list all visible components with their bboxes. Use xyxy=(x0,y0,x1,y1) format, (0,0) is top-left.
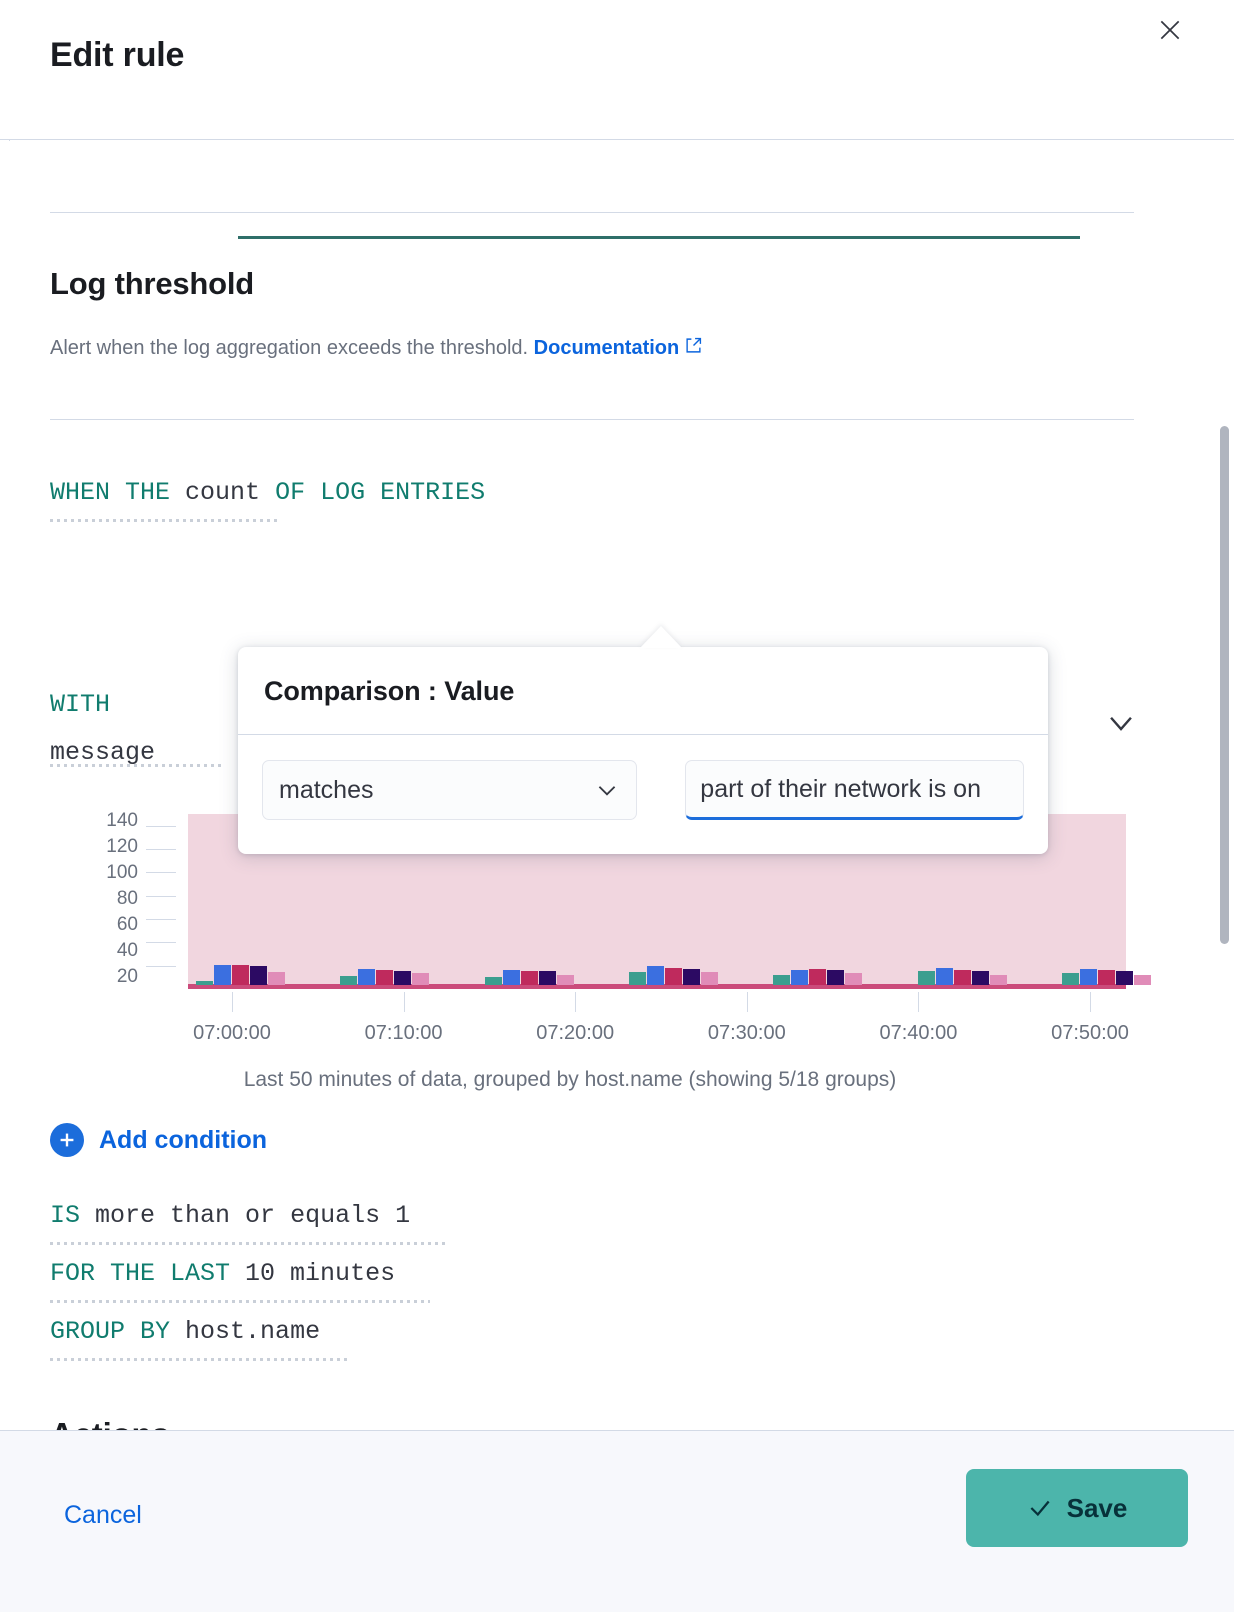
chart-y-gridline xyxy=(146,966,176,967)
expression-group-by-row[interactable]: GROUP BY host.name xyxy=(50,1315,320,1348)
expression-field-value: message xyxy=(50,738,155,767)
chart-bar xyxy=(701,972,718,985)
section-description-text: Alert when the log aggregation exceeds t… xyxy=(50,337,528,359)
expression-underline-when-the xyxy=(50,519,280,522)
chart-bar xyxy=(809,969,826,985)
chart-bar xyxy=(1062,973,1079,985)
expression-keyword-when-the: WHEN THE xyxy=(50,478,170,507)
chart-bar xyxy=(683,969,700,985)
comparator-select-value: matches xyxy=(279,776,594,805)
chart-bar xyxy=(376,970,393,985)
chart-y-gridline xyxy=(146,942,176,943)
add-condition-button[interactable]: Add condition xyxy=(50,1123,267,1157)
chart-x-axis-labels: 07:00:0007:10:0007:20:0007:30:0007:40:00… xyxy=(188,1022,1126,1048)
chart-y-tick-label: 20 xyxy=(60,964,138,990)
chart-y-gridline xyxy=(146,872,176,873)
plus-in-circle-icon xyxy=(50,1123,84,1157)
chart-x-tick-marks xyxy=(188,992,1126,1014)
chart-bar xyxy=(503,970,520,985)
expression-underline-for-the-last xyxy=(50,1300,430,1303)
chart-bar xyxy=(521,971,538,985)
chart-bar xyxy=(827,970,844,985)
expression-group-by-value: host.name xyxy=(185,1317,320,1346)
comparison-value-popover: Comparison : Value matches part of their… xyxy=(238,647,1048,854)
vertical-scrollbar[interactable] xyxy=(1216,141,1234,1430)
chart-bar xyxy=(340,976,357,985)
chart-x-tick xyxy=(918,992,919,1012)
expression-keyword-for-the-last: FOR THE LAST xyxy=(50,1259,230,1288)
expression-keyword-group-by: GROUP BY xyxy=(50,1317,170,1346)
chart-bar xyxy=(358,969,375,985)
chart-bar xyxy=(1116,971,1133,985)
chart-y-tick-label: 40 xyxy=(60,938,138,964)
expression-with-field[interactable]: WITHmessage xyxy=(50,681,155,776)
chart-bar xyxy=(232,965,249,985)
chart-x-tick-label: 07:50:00 xyxy=(1051,1022,1129,1045)
flyout-footer: Cancel Save xyxy=(0,1430,1234,1612)
section-description: Alert when the log aggregation exceeds t… xyxy=(50,337,702,360)
chart-bar xyxy=(557,975,574,986)
chart-x-tick-label: 07:10:00 xyxy=(365,1022,443,1045)
chart-bar xyxy=(773,975,790,986)
expression-when-the[interactable]: WHEN THE count OF LOG ENTRIES xyxy=(50,476,485,509)
chart-y-gridline xyxy=(146,849,176,850)
chart-x-tick xyxy=(232,992,233,1012)
actions-section-title: Actions xyxy=(50,1416,170,1430)
chart-x-tick-label: 07:40:00 xyxy=(879,1022,957,1045)
chart-y-tick-label: 100 xyxy=(60,860,138,886)
cancel-button[interactable]: Cancel xyxy=(64,1501,142,1530)
divider-below-description xyxy=(50,419,1134,420)
expression-underline-is xyxy=(50,1242,445,1245)
chart-bar xyxy=(539,971,556,985)
chart-y-gridline xyxy=(146,826,176,827)
page-title: Edit rule xyxy=(50,36,184,75)
chart-bar xyxy=(268,972,285,985)
section-title: Log threshold xyxy=(50,266,254,302)
expression-for-the-last-row[interactable]: FOR THE LAST 10 minutes xyxy=(50,1257,395,1290)
popover-title: Comparison : Value xyxy=(238,647,1048,735)
expression-for-the-last-value: 10 minutes xyxy=(245,1259,395,1288)
chart-bar xyxy=(196,981,213,985)
chart-x-tick-label: 07:30:00 xyxy=(708,1022,786,1045)
expression-aggregation-value: count xyxy=(185,478,260,507)
chart-bar xyxy=(250,966,267,985)
chart-bar xyxy=(972,971,989,985)
expression-underline-group-by xyxy=(50,1358,350,1361)
chart-y-axis-labels: 14012010080604020 xyxy=(60,808,138,990)
chart-x-tick xyxy=(404,992,405,1012)
chart-bar xyxy=(791,970,808,985)
chart-y-gridline xyxy=(146,919,176,920)
chart-bar xyxy=(954,970,971,985)
external-link-icon xyxy=(685,337,702,360)
chart-bar xyxy=(936,968,953,986)
comparator-select[interactable]: matches xyxy=(262,760,637,820)
chart-x-tick xyxy=(1090,992,1091,1012)
chart-bar xyxy=(918,971,935,985)
check-icon xyxy=(1027,1495,1053,1521)
chart-bar xyxy=(485,977,502,985)
chart-bar xyxy=(647,966,664,985)
chevron-down-icon xyxy=(594,777,620,803)
chart-y-tick-label: 60 xyxy=(60,912,138,938)
chart-bar xyxy=(1080,969,1097,985)
flyout-header: Edit rule xyxy=(0,0,1234,140)
chart-bar xyxy=(665,968,682,986)
save-button-label: Save xyxy=(1067,1493,1128,1524)
expression-keyword-with: WITH xyxy=(50,690,110,719)
comparison-value-input[interactable]: part of their network is on xyxy=(685,760,1024,820)
chevron-down-icon[interactable] xyxy=(1104,705,1138,744)
documentation-link[interactable]: Documentation xyxy=(534,337,680,359)
chart-bar xyxy=(990,975,1007,986)
chart-x-tick-label: 07:20:00 xyxy=(536,1022,614,1045)
chart-bar xyxy=(214,965,231,985)
chart-x-tick-label: 07:00:00 xyxy=(193,1022,271,1045)
comparison-value-input-text: part of their network is on xyxy=(700,775,981,804)
chart-y-gridline xyxy=(146,896,176,897)
add-condition-label: Add condition xyxy=(99,1126,267,1155)
chart-bar xyxy=(394,971,411,985)
chart-bar xyxy=(1098,970,1115,985)
chart-bar xyxy=(629,972,646,985)
scrollbar-thumb[interactable] xyxy=(1220,426,1229,944)
chart-bar xyxy=(1134,975,1151,986)
chart-x-tick xyxy=(575,992,576,1012)
divider-top xyxy=(50,212,1134,213)
chart-x-tick xyxy=(747,992,748,1012)
chart-y-tick-label: 80 xyxy=(60,886,138,912)
chart-caption: Last 50 minutes of data, grouped by host… xyxy=(50,1068,1090,1092)
chart-y-tick-label: 140 xyxy=(60,808,138,834)
close-icon[interactable] xyxy=(1148,8,1192,52)
expression-underline-with-field xyxy=(50,764,225,767)
save-button[interactable]: Save xyxy=(966,1469,1188,1547)
popover-body: matches part of their network is on xyxy=(238,735,1048,854)
expression-underline-with-value xyxy=(238,236,1080,239)
chart-bar xyxy=(845,973,862,985)
chart-y-tick-label: 120 xyxy=(60,834,138,860)
expression-keyword-is: IS xyxy=(50,1201,80,1230)
expression-is-value: more than or equals 1 xyxy=(95,1201,410,1230)
expression-keyword-of-log-entries: OF LOG ENTRIES xyxy=(275,478,485,507)
expression-is-row[interactable]: IS more than or equals 1 xyxy=(50,1199,410,1232)
popover-arrow xyxy=(640,626,682,648)
chart-bar xyxy=(412,973,429,985)
